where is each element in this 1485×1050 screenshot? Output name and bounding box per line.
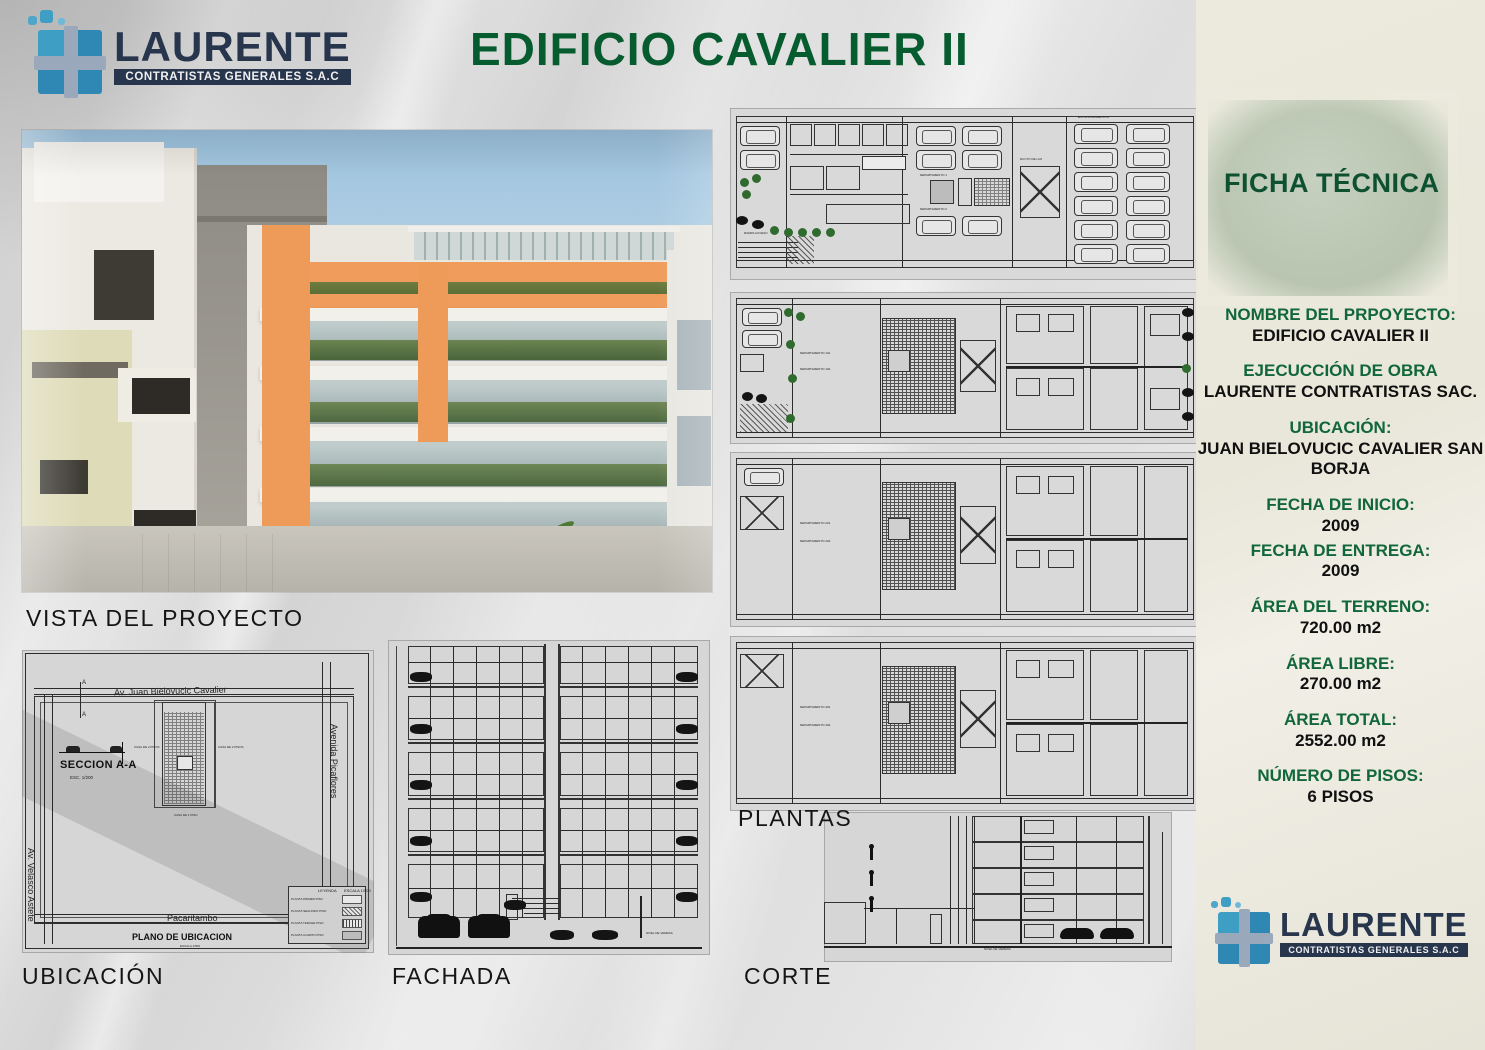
site-location-plan: A A SECCION A-A ESC. 1/200 Av. Juan Biel…	[22, 650, 374, 953]
seccion-aa-scale: ESC. 1/200	[70, 776, 93, 781]
ficha-field-label: FECHA DE INICIO:	[1196, 495, 1485, 516]
ficha-field: ÁREA DEL TERRENO: 720.00 m2	[1196, 597, 1485, 638]
parking-car	[1074, 148, 1118, 168]
ficha-field: FECHA DE ENTREGA: 2009	[1196, 541, 1485, 582]
parking-car	[1074, 196, 1118, 216]
ficha-field: NÚMERO DE PISOS: 6 PISOS	[1196, 766, 1485, 807]
parking-car	[740, 126, 780, 146]
ficha-field-value: 270.00 m2	[1196, 674, 1485, 695]
company-logo-header: LAURENTE CONTRATISTAS GENERALES S.A.C	[24, 12, 354, 100]
company-logo-footer: LAURENTE CONTRATISTAS GENERALES S.A.C	[1208, 898, 1458, 968]
parking-car	[1126, 124, 1170, 144]
caption-vista-proyecto: VISTA DEL PROYECTO	[26, 605, 304, 632]
section-mark-a-bottom: A	[82, 712, 86, 718]
brand-name: LAURENTE	[1280, 909, 1468, 940]
parking-car	[962, 216, 1002, 236]
ficha-field-value: 2552.00 m2	[1196, 731, 1485, 752]
parking-car	[916, 216, 956, 236]
street-label-right: Avenida Picaflores	[329, 724, 339, 798]
ficha-field: ÁREA LIBRE: 270.00 m2	[1196, 654, 1485, 695]
parking-car	[916, 126, 956, 146]
laurente-cross-icon	[1208, 900, 1274, 966]
street-label-bottom: Pacaritambo	[167, 913, 218, 923]
brand-tagline: CONTRATISTAS GENERALES S.A.C	[114, 69, 351, 85]
floor-plan-typical-3: DEPARTAMENTO 301 DEPARTAMENTO 302	[730, 636, 1202, 811]
legend-title: LEYENDA	[318, 889, 337, 893]
ficha-field: ÁREA TOTAL: 2552.00 m2	[1196, 710, 1485, 751]
ficha-field-label: UBICACIÓN:	[1196, 418, 1485, 439]
ficha-field-value: 720.00 m2	[1196, 618, 1485, 639]
ficha-field-value: 2009	[1196, 561, 1485, 582]
parking-car	[1126, 172, 1170, 192]
parking-car	[962, 150, 1002, 170]
parking-car	[916, 150, 956, 170]
caption-plantas: PLANTAS	[738, 805, 852, 832]
caption-ubicacion: UBICACIÓN	[22, 963, 164, 990]
street-label-left: Av. Velasco Astete	[26, 848, 36, 922]
brand-name: LAURENTE	[114, 27, 351, 67]
floor-plan-typical-1: DEPARTAMENTO 101 DEPARTAMENTO 102	[730, 292, 1202, 444]
ficha-field-value: 2009	[1196, 516, 1485, 537]
site-plan-scale: ESCALA 1/500	[180, 945, 200, 948]
parking-car	[1074, 220, 1118, 240]
floor-plan-typical-2: DEPARTAMENTO 201 DEPARTAMENTO 202	[730, 452, 1202, 627]
ficha-field-value: JUAN BIELOVUCIC CAVALIER SAN BORJA	[1196, 439, 1485, 480]
ficha-tecnica-heading: FICHA TÉCNICA	[1224, 168, 1440, 199]
facade-elevation-drawing: NIVEL DE VEREDA	[388, 640, 710, 955]
ficha-field-label: ÁREA TOTAL:	[1196, 710, 1485, 731]
legend-item-label: PLANTA TERCER PISO	[291, 922, 323, 925]
caption-fachada: FACHADA	[392, 963, 512, 990]
ficha-tecnica-fields: NOMBRE DEL PRPOYECTO: EDIFICIO CAVALIER …	[1196, 305, 1485, 823]
ficha-field: UBICACIÓN: JUAN BIELOVUCIC CAVALIER SAN …	[1196, 418, 1485, 480]
page-title: EDIFICIO CAVALIER II	[470, 22, 969, 76]
ficha-field: FECHA DE INICIO: 2009	[1196, 495, 1485, 536]
ficha-field-label: FECHA DE ENTREGA:	[1196, 541, 1485, 562]
parking-car	[962, 126, 1002, 146]
laurente-cross-icon	[24, 14, 108, 98]
site-plan-title: PLANO DE UBICACION	[132, 933, 232, 942]
neighbor-note-bottom: CASA DE 1 PISO	[174, 814, 198, 817]
ficha-field: EJECUCCIÓN DE OBRA LAURENTE CONTRATISTAS…	[1196, 361, 1485, 402]
parking-car	[1126, 220, 1170, 240]
legend-item-label: PLANTA PRIMER PISO	[291, 898, 323, 901]
ficha-field-value: LAURENTE CONTRATISTAS SAC.	[1196, 382, 1485, 403]
ficha-field-value: EDIFICIO CAVALIER II	[1196, 326, 1485, 347]
parking-car	[1126, 148, 1170, 168]
parking-car	[742, 308, 782, 326]
ficha-field: NOMBRE DEL PRPOYECTO: EDIFICIO CAVALIER …	[1196, 305, 1485, 346]
legend-scale: ESCALA 1/500	[344, 889, 371, 893]
parking-car	[1126, 244, 1170, 264]
ficha-field-label: NOMBRE DEL PRPOYECTO:	[1196, 305, 1485, 326]
parking-car	[1074, 172, 1118, 192]
project-photo: 375	[22, 130, 712, 592]
brand-tagline: CONTRATISTAS GENERALES S.A.C	[1280, 943, 1468, 957]
neighbor-note-right: CASA DE 2 PISOS	[218, 746, 244, 749]
caption-corte: CORTE	[744, 963, 832, 990]
legend-item-label: PLANTA CUARTO PISO	[291, 934, 324, 937]
ficha-field-label: ÁREA LIBRE:	[1196, 654, 1485, 675]
parking-car	[744, 468, 784, 486]
parking-car	[1074, 244, 1118, 264]
parking-car	[1074, 124, 1118, 144]
ficha-field-label: ÁREA DEL TERRENO:	[1196, 597, 1485, 618]
parking-car	[1126, 196, 1170, 216]
parking-car	[742, 330, 782, 348]
ficha-field-label: EJECUCCIÓN DE OBRA	[1196, 361, 1485, 382]
section-mark-a-top: A	[82, 680, 86, 686]
ficha-field-value: 6 PISOS	[1196, 787, 1485, 808]
neighbor-note-left: CASA DE 2 PISOS	[134, 746, 160, 749]
ficha-field-label: NÚMERO DE PISOS:	[1196, 766, 1485, 787]
legend-item-label: PLANTA SEGUNDO PISO	[291, 910, 326, 913]
parking-car	[740, 150, 780, 170]
building-section-drawing: NIVEL DE VEREDA	[824, 812, 1172, 962]
floor-plan-parking: RAMPA ACCESO DEPARTAMENTO 1 DEPARTAMENTO…	[730, 108, 1202, 280]
seccion-aa-label: SECCION A-A	[60, 760, 137, 771]
